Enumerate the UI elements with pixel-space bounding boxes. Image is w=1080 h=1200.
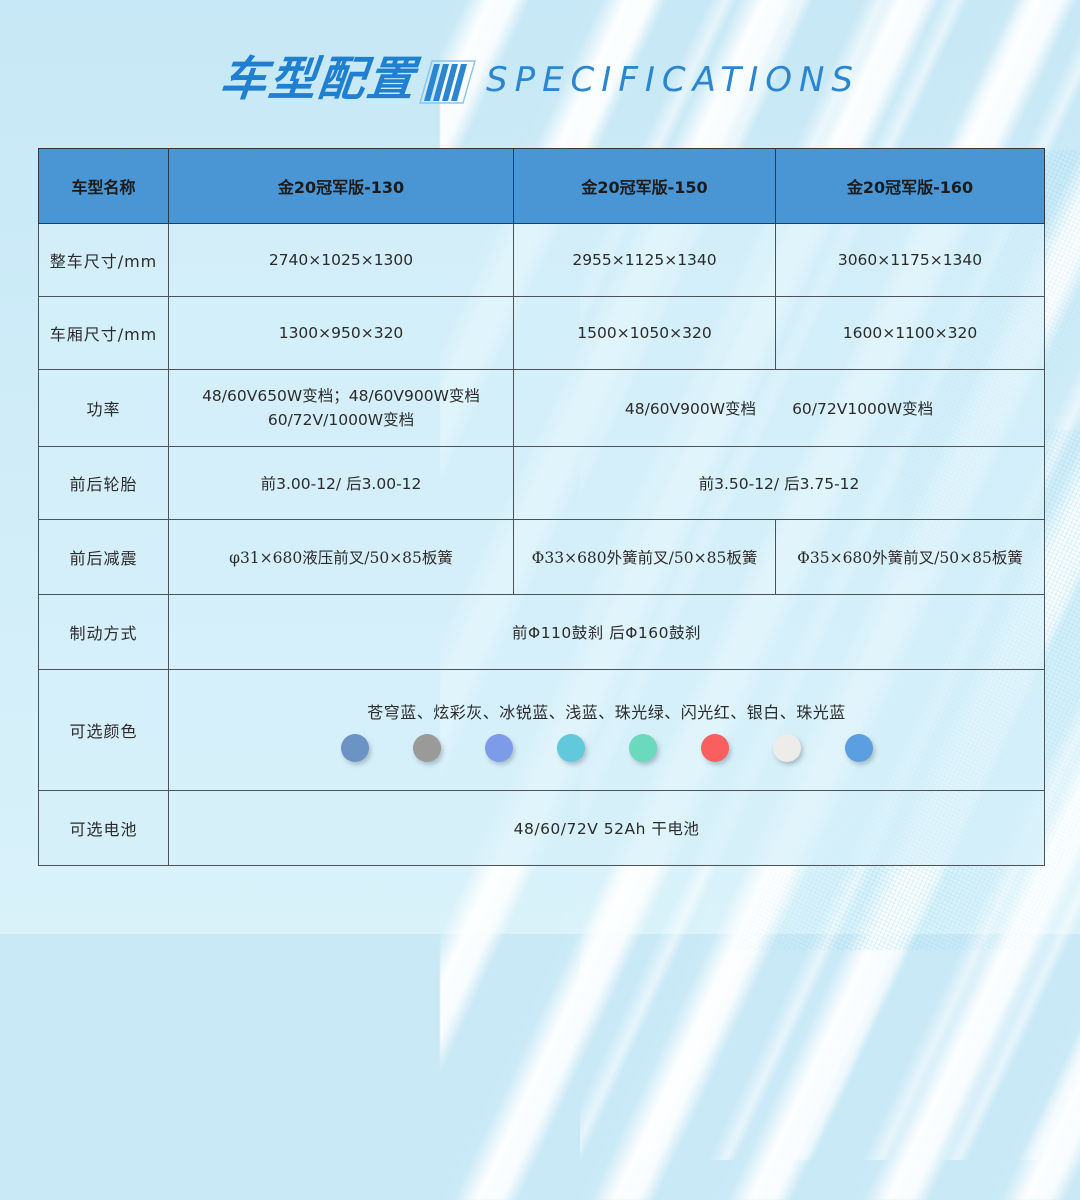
table-row: 可选颜色 苍穹蓝、炫彩灰、冰锐蓝、浅蓝、珠光绿、闪光红、银白、珠光蓝	[39, 670, 1045, 791]
cell-tyres-130: 前3.00-12/ 后3.00-12	[169, 447, 514, 520]
row-label-tyres: 前后轮胎	[39, 447, 169, 520]
table-row: 功率 48/60V650W变档；48/60V900W变档 60/72V/1000…	[39, 370, 1045, 447]
color-swatch	[773, 734, 801, 762]
row-label-power: 功率	[39, 370, 169, 447]
cell-colors-all: 苍穹蓝、炫彩灰、冰锐蓝、浅蓝、珠光绿、闪光红、银白、珠光蓝	[169, 670, 1045, 791]
header-cell-model-150: 金20冠军版-150	[514, 149, 776, 224]
row-label-brakes: 制动方式	[39, 595, 169, 670]
cell-vehicle-size-150: 2955×1125×1340	[514, 224, 776, 297]
cell-brakes-all: 前Φ110鼓刹 后Φ160鼓刹	[169, 595, 1045, 670]
header-cell-spec-name: 车型名称	[39, 149, 169, 224]
diagonal-bars-icon	[418, 59, 476, 105]
color-swatch	[413, 734, 441, 762]
table-header-row: 车型名称 金20冠军版-130 金20冠军版-150 金20冠军版-160	[39, 149, 1045, 224]
cell-power-160: 60/72V1000W变档	[792, 397, 933, 419]
color-swatch	[485, 734, 513, 762]
color-swatch	[557, 734, 585, 762]
cell-vehicle-size-160: 3060×1175×1340	[776, 224, 1045, 297]
page-title-en: SPECIFICATIONS	[486, 63, 860, 97]
table-row: 制动方式 前Φ110鼓刹 后Φ160鼓刹	[39, 595, 1045, 670]
table-row: 前后减震 φ31×680液压前叉/50×85板簧 Φ33×680外簧前叉/50×…	[39, 520, 1045, 595]
cell-battery-all: 48/60/72V 52Ah 干电池	[169, 791, 1045, 866]
row-label-vehicle-size: 整车尺寸/mm	[39, 224, 169, 297]
table-row: 车厢尺寸/mm 1300×950×320 1500×1050×320 1600×…	[39, 297, 1045, 370]
row-label-colors: 可选颜色	[39, 670, 169, 791]
table-row: 可选电池 48/60/72V 52Ah 干电池	[39, 791, 1045, 866]
cell-cargo-size-150: 1500×1050×320	[514, 297, 776, 370]
cell-cargo-size-160: 1600×1100×320	[776, 297, 1045, 370]
specifications-table: 车型名称 金20冠军版-130 金20冠军版-150 金20冠军版-160 整车…	[38, 148, 1045, 866]
color-swatch-row	[175, 734, 1038, 762]
cell-suspension-130: φ31×680液压前叉/50×85板簧	[169, 520, 514, 595]
table-row: 前后轮胎 前3.00-12/ 后3.00-12 前3.50-12/ 后3.75-…	[39, 447, 1045, 520]
cell-power-130: 48/60V650W变档；48/60V900W变档 60/72V/1000W变档	[169, 370, 514, 447]
row-label-suspension: 前后减震	[39, 520, 169, 595]
cell-cargo-size-130: 1300×950×320	[169, 297, 514, 370]
cell-tyres-150-160-merged: 前3.50-12/ 后3.75-12	[514, 447, 1045, 520]
row-label-cargo-size: 车厢尺寸/mm	[39, 297, 169, 370]
page-title-cn: 车型配置	[218, 56, 419, 103]
cell-suspension-160: Φ35×680外簧前叉/50×85板簧	[776, 520, 1045, 595]
color-swatch	[341, 734, 369, 762]
cell-power-130-line1: 48/60V650W变档；48/60V900W变档	[175, 384, 507, 408]
cell-power-150-160-merged: 48/60V900W变档 60/72V1000W变档	[514, 370, 1045, 447]
cell-power-150: 48/60V900W变档	[625, 397, 756, 419]
cell-power-130-line2: 60/72V/1000W变档	[175, 408, 507, 432]
color-names-text: 苍穹蓝、炫彩灰、冰锐蓝、浅蓝、珠光绿、闪光红、银白、珠光蓝	[175, 699, 1038, 723]
color-swatch	[845, 734, 873, 762]
cell-suspension-150: Φ33×680外簧前叉/50×85板簧	[514, 520, 776, 595]
page-title: 车型配置 SPECIFICATIONS	[0, 56, 1080, 103]
color-swatch	[701, 734, 729, 762]
table-row: 整车尺寸/mm 2740×1025×1300 2955×1125×1340 30…	[39, 224, 1045, 297]
header-cell-model-130: 金20冠军版-130	[169, 149, 514, 224]
row-label-battery: 可选电池	[39, 791, 169, 866]
color-swatch	[629, 734, 657, 762]
cell-vehicle-size-130: 2740×1025×1300	[169, 224, 514, 297]
header-cell-model-160: 金20冠军版-160	[776, 149, 1045, 224]
